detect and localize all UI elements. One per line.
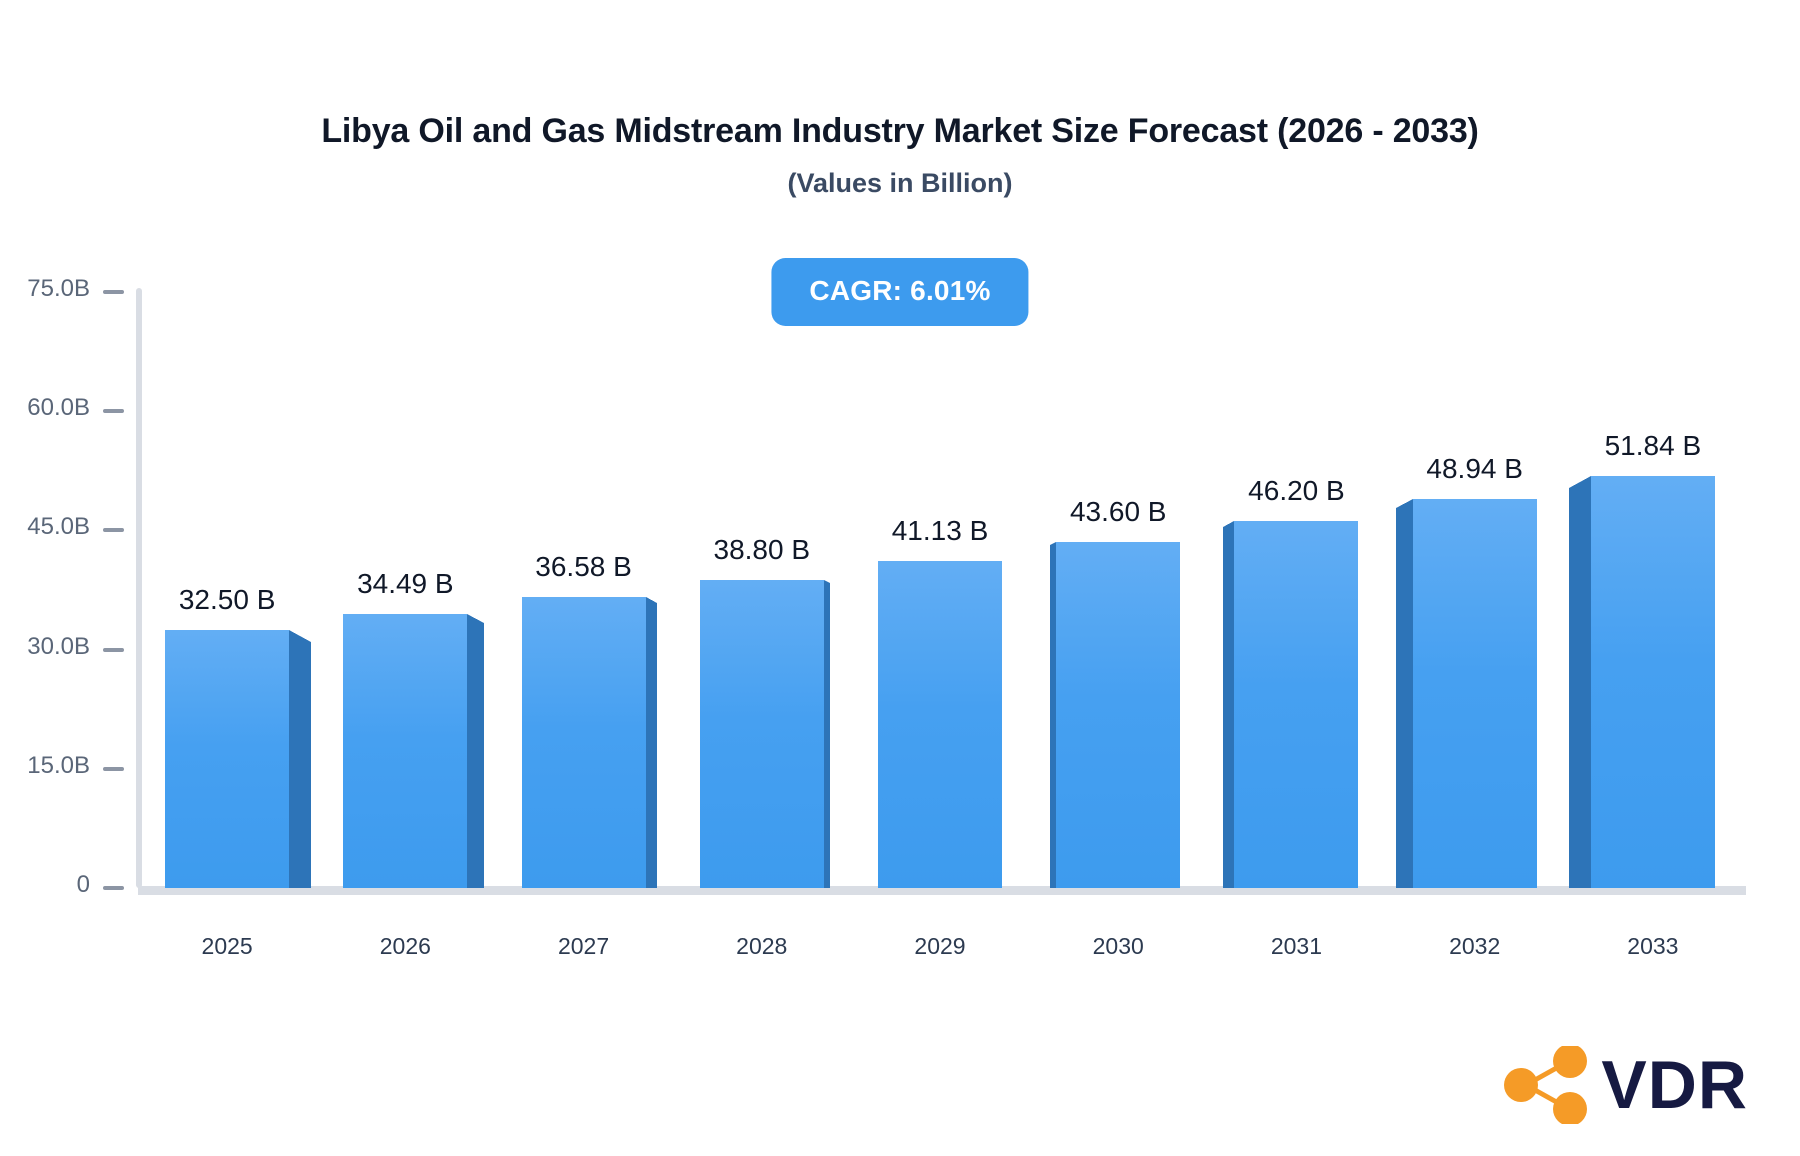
bar-top-face (824, 580, 830, 583)
bar-side-face (1396, 508, 1413, 888)
x-axis-tick-label: 2032 (1449, 933, 1500, 960)
bar-value-label: 51.84 B (1605, 430, 1702, 462)
bar-2025[interactable]: 32.50 B (165, 630, 289, 888)
bar-front-face (700, 580, 824, 888)
bar-2027[interactable]: 36.58 B (522, 597, 646, 888)
bar-value-label: 38.80 B (714, 534, 811, 566)
bar-front-face (1413, 499, 1537, 888)
bar-front-face (165, 630, 289, 888)
x-axis-tick-label: 2025 (202, 933, 253, 960)
bar-top-face (1569, 476, 1591, 488)
bar-value-label: 43.60 B (1070, 496, 1167, 528)
bar-top-face (646, 597, 657, 603)
x-axis-tick-label: 2026 (380, 933, 431, 960)
bar-top-face (1396, 499, 1413, 508)
logo-wordmark: VDR (1601, 1051, 1748, 1119)
y-axis-tick-mark (103, 290, 124, 294)
bar-value-label: 48.94 B (1426, 453, 1523, 485)
bar-side-face (646, 603, 657, 888)
bar-side-face (1569, 488, 1591, 888)
bar-2026[interactable]: 34.49 B (343, 614, 467, 888)
bar-front-face (1591, 476, 1715, 888)
bar-side-face (1223, 527, 1234, 888)
y-axis-tick-mark (103, 409, 124, 413)
y-axis-tick-label: 45.0B (27, 513, 90, 541)
x-axis-tick-label: 2027 (558, 933, 609, 960)
bar-2033[interactable]: 51.84 B (1591, 476, 1715, 888)
bar-top-face (1223, 521, 1234, 527)
chart-plot-area: 75.0B60.0B45.0B30.0B15.0B0 32.50 B34.49 … (0, 0, 1800, 1156)
bar-value-label: 34.49 B (357, 568, 454, 600)
y-axis-tick-label: 15.0B (27, 752, 90, 780)
bar-value-label: 41.13 B (892, 515, 989, 547)
bar-2032[interactable]: 48.94 B (1413, 499, 1537, 888)
bar-side-face (824, 583, 830, 888)
bar-value-label: 46.20 B (1248, 475, 1345, 507)
bar-2028[interactable]: 38.80 B (700, 580, 824, 888)
x-axis-tick-label: 2028 (736, 933, 787, 960)
bar-top-face (467, 614, 484, 623)
bar-front-face (878, 561, 1002, 888)
y-axis-tick-label: 60.0B (27, 394, 90, 422)
bar-front-face (343, 614, 467, 888)
y-axis-tick-mark (103, 886, 124, 890)
y-axis-tick-label: 75.0B (27, 275, 90, 303)
vdr-logo: VDR (1499, 1046, 1748, 1124)
bar-front-face (522, 597, 646, 888)
bar-2030[interactable]: 43.60 B (1056, 542, 1180, 888)
x-axis-tick-label: 2033 (1627, 933, 1678, 960)
bar-front-face (1056, 542, 1180, 888)
x-axis-labels: 202520262027202820292030203120322033 (0, 895, 1800, 955)
y-axis-line (136, 288, 142, 888)
y-axis-tick-mark (103, 528, 124, 532)
bar-side-face (289, 642, 311, 888)
bar-2031[interactable]: 46.20 B (1234, 521, 1358, 888)
x-axis-tick-label: 2029 (914, 933, 965, 960)
y-axis-tick-mark (103, 648, 124, 652)
bar-top-face (289, 630, 311, 642)
bar-2029[interactable]: 41.13 B (878, 561, 1002, 888)
bar-value-label: 36.58 B (535, 551, 632, 583)
bar-value-label: 32.50 B (179, 584, 276, 616)
y-axis-tick-label: 30.0B (27, 633, 90, 661)
share-network-icon (1499, 1046, 1595, 1124)
y-axis-tick-mark (103, 767, 124, 771)
x-axis-tick-label: 2031 (1271, 933, 1322, 960)
bar-side-face (467, 623, 484, 888)
x-axis-tick-label: 2030 (1093, 933, 1144, 960)
bar-front-face (1234, 521, 1358, 888)
